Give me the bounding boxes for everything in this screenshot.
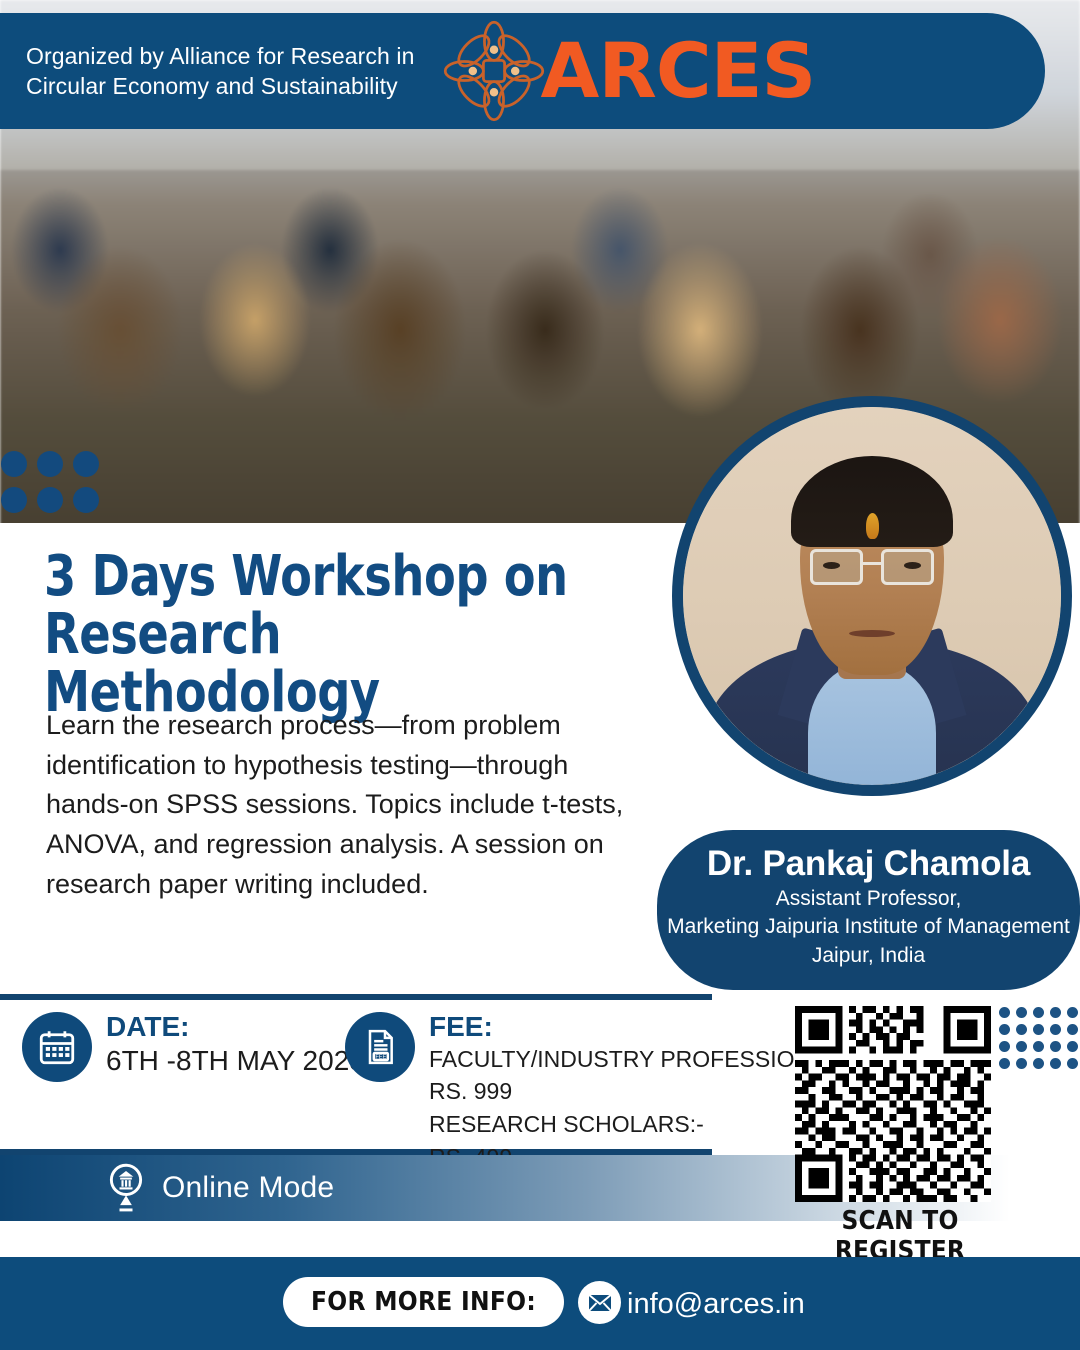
date-text-group: DATE: 6TH -8TH MAY 2025 [106,1012,365,1078]
speaker-name: Dr. Pankaj Chamola [667,844,1070,884]
fee-block: FEE FEE: FACULTY/INDUSTRY PROFESSIONALS:… [345,1012,869,1173]
speaker-role-line-1: Assistant Professor, [667,886,1070,912]
workshop-description: Learn the research process—from problem … [46,706,626,904]
envelope-icon [578,1281,621,1324]
contact-email[interactable]: info@arces.in [627,1288,805,1321]
qr-code-icon[interactable] [795,1006,991,1202]
divider-top [0,994,712,1000]
speaker-role-line-2: Marketing Jaipuria Institute of Manageme… [667,914,1070,940]
for-more-info-label: FOR MORE INFO: [311,1287,536,1317]
date-block: DATE: 6TH -8TH MAY 2025 [22,1012,365,1082]
page-title: 3 Days Workshop on Research Methodology [44,548,605,723]
calendar-icon [22,1012,92,1082]
qr-code-block[interactable] [795,1006,991,1207]
organizer-line-1: Organized by Alliance for Research in [26,41,415,71]
organizer-text: Organized by Alliance for Research in Ci… [26,41,415,102]
poster-root: Organized by Alliance for Research in Ci… [0,0,1080,1350]
arces-floral-logo-icon [441,18,547,124]
title-line-1: 3 Days Workshop on [44,548,605,606]
speaker-photo-inner [683,407,1061,785]
organizer-line-2: Circular Economy and Sustainability [26,71,415,101]
dot-grid-right [996,1004,1080,1072]
date-label: DATE: [106,1012,365,1043]
svg-text:FEE: FEE [375,1055,386,1061]
speaker-role-line-3: Jaipur, India [667,943,1070,969]
brand-logo-group: ARCES [441,18,816,124]
speaker-name-plate: Dr. Pankaj Chamola Assistant Professor, … [657,830,1080,990]
date-value: 6TH -8TH MAY 2025 [106,1043,365,1078]
speaker-photo [672,396,1072,796]
location-pin-institution-icon [106,1162,146,1214]
fee-document-icon: FEE [345,1012,415,1082]
mode-label: Online Mode [162,1171,334,1205]
header-bar: Organized by Alliance for Research in Ci… [0,13,1045,129]
brand-name: ARCES [541,33,816,109]
for-more-info-pill: FOR MORE INFO: [283,1277,564,1327]
